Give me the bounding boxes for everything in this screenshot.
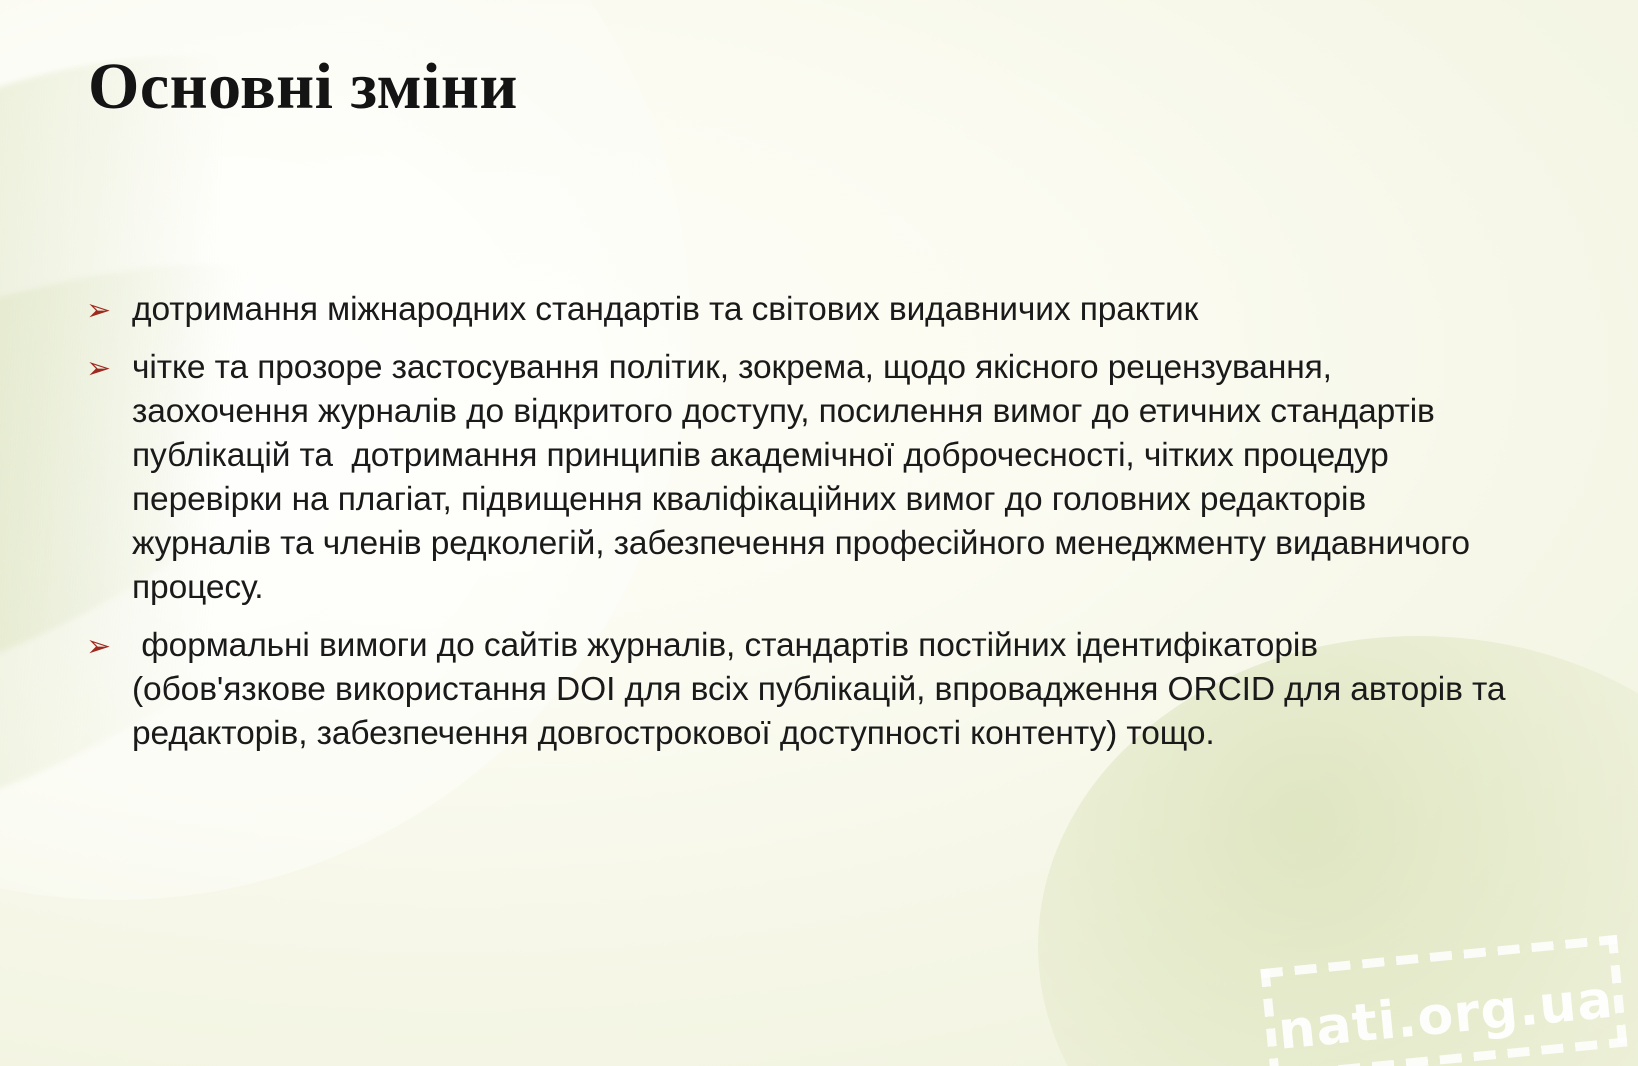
page-title: Основні зміни [88, 52, 518, 121]
bullet-list: ➢ дотримання міжнародних стандартів та с… [86, 288, 1506, 756]
watermark-frame [1260, 935, 1627, 1066]
list-item-text: дотримання міжнародних стандартів та сві… [132, 288, 1506, 332]
list-item-text: чітке та прозоре застосування політик, з… [132, 346, 1506, 610]
chevron-bullet-icon: ➢ [86, 346, 132, 384]
watermark: nati.org.ua [1249, 921, 1632, 1066]
presentation-slide: Основні зміни ➢ дотримання міжнародних с… [0, 0, 1638, 1066]
list-item: ➢ формальні вимоги до сайтів журналів, с… [86, 624, 1506, 756]
list-item: ➢ дотримання міжнародних стандартів та с… [86, 288, 1506, 332]
list-item: ➢ чітке та прозоре застосування політик,… [86, 346, 1506, 610]
list-item-text: формальні вимоги до сайтів журналів, ста… [132, 624, 1506, 756]
watermark-text: nati.org.ua [1276, 970, 1616, 1062]
chevron-bullet-icon: ➢ [86, 288, 132, 326]
chevron-bullet-icon: ➢ [86, 624, 132, 662]
